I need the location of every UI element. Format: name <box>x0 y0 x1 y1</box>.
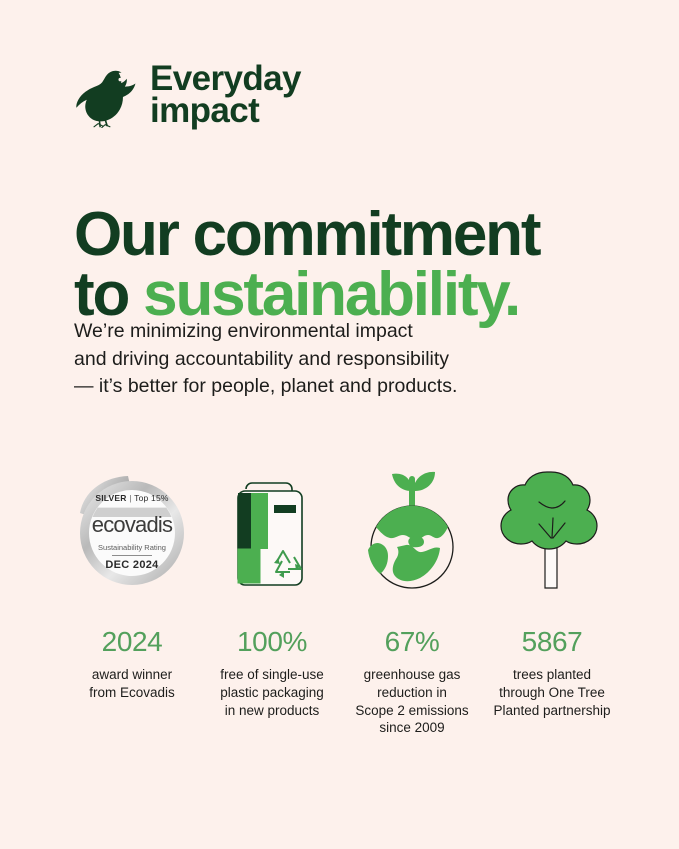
stats-row: SILVER | Top 15% ecovadis Sustainability… <box>62 466 622 737</box>
stat-caption: award winner from Ecovadis <box>89 666 175 702</box>
stat-caption-line: since 2009 <box>355 719 468 737</box>
stat-icon-wrapper <box>499 466 605 596</box>
stat-caption: greenhouse gas reduction in Scope 2 emis… <box>355 666 468 737</box>
stat-caption-line: in new products <box>220 702 324 720</box>
stat-caption-line: plastic packaging <box>220 684 324 702</box>
logo-line-2: impact <box>150 95 301 127</box>
stat-icon-wrapper <box>356 466 468 596</box>
stat-caption-line: free of single-use <box>220 666 324 684</box>
intro-line-1: We’re minimizing environmental impact <box>74 318 594 346</box>
sustainability-infographic: Everyday impact Our commitment to sustai… <box>0 0 679 849</box>
tree-icon <box>499 466 605 596</box>
stat-caption-line: Planted partnership <box>493 702 610 720</box>
logo-wordmark: Everyday impact <box>150 63 301 127</box>
page-title: Our commitment to sustainability. <box>74 205 634 327</box>
stat-caption: free of single-use plastic packaging in … <box>220 666 324 719</box>
stat-caption-line: reduction in <box>355 684 468 702</box>
stat-value: 5867 <box>522 628 583 656</box>
stat-caption-line: trees planted <box>493 666 610 684</box>
stat-item: 5867 trees planted through One Tree Plan… <box>482 466 622 719</box>
stat-caption-line: through One Tree <box>493 684 610 702</box>
stat-icon-wrapper: SILVER | Top 15% ecovadis Sustainability… <box>74 466 190 596</box>
intro-line-3: — it’s better for people, planet and pro… <box>74 373 594 401</box>
recyclable-packaging-icon <box>224 467 320 595</box>
stat-caption-line: award winner <box>89 666 175 684</box>
stat-caption-line: greenhouse gas <box>355 666 468 684</box>
ecovadis-medal-icon: SILVER | Top 15% ecovadis Sustainability… <box>74 473 190 589</box>
stat-item: 67% greenhouse gas reduction in Scope 2 … <box>342 466 482 737</box>
brand-logo: Everyday impact <box>76 62 301 128</box>
bird-icon <box>76 62 138 128</box>
stat-value: 100% <box>237 628 307 656</box>
stat-value: 2024 <box>102 628 163 656</box>
stat-item: SILVER | Top 15% ecovadis Sustainability… <box>62 466 202 702</box>
stat-icon-wrapper <box>224 466 320 596</box>
stat-caption: trees planted through One Tree Planted p… <box>493 666 610 719</box>
globe-sprout-icon <box>356 465 468 597</box>
medal-divider <box>112 555 152 556</box>
intro-line-2: and driving accountability and responsib… <box>74 346 594 374</box>
headline-line-1: Our commitment <box>74 200 539 269</box>
stat-caption-line: Scope 2 emissions <box>355 702 468 720</box>
stat-caption-line: from Ecovadis <box>89 684 175 702</box>
intro-paragraph: We’re minimizing environmental impact an… <box>74 318 594 401</box>
stat-item: 100% free of single-use plastic packagin… <box>202 466 342 719</box>
stat-value: 67% <box>385 628 440 656</box>
